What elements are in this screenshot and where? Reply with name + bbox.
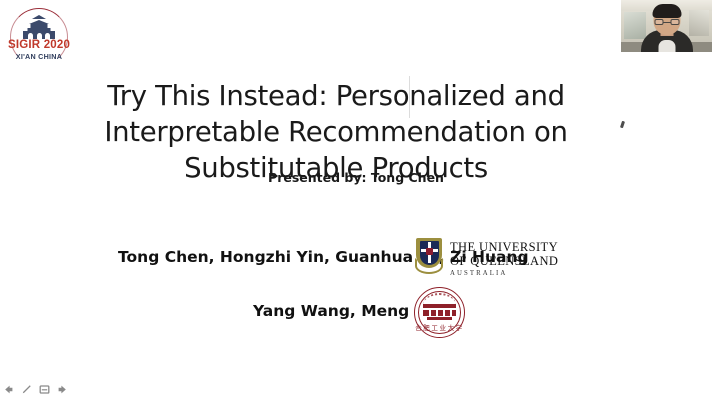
sigir-logo-name: SIGIR 2020 bbox=[8, 39, 70, 51]
seal-chinese-characters: 合肥工业大学 bbox=[414, 322, 465, 332]
webcam-window-right bbox=[689, 10, 709, 36]
sigir-conference-logo: SIGIR 2020 XI'AN CHINA bbox=[8, 6, 70, 62]
uq-text-line-2: OF QUEENSLAND bbox=[450, 254, 558, 268]
presenter-webcam-feed[interactable] bbox=[621, 0, 712, 52]
pen-annotation-button[interactable] bbox=[20, 383, 33, 396]
sigir-logo-location: XI'AN CHINA bbox=[8, 52, 70, 61]
presentation-slide: SIGIR 2020 XI'AN CHINA Try This Instead:… bbox=[0, 0, 712, 400]
render-artifact-line bbox=[409, 76, 410, 118]
screen-icon bbox=[39, 384, 50, 395]
left-arrow-icon bbox=[3, 384, 14, 395]
seal-emblem-bar-mid bbox=[423, 310, 456, 316]
pen-icon bbox=[21, 384, 32, 395]
presenter-line: Presented by: Tong Chen bbox=[0, 170, 712, 185]
hefei-university-seal-logo: 合肥工业大学 bbox=[414, 287, 465, 338]
university-of-queensland-logo: THE UNIVERSITY OF QUEENSLAND AUSTRALIA bbox=[414, 238, 538, 278]
seal-emblem-bar-top bbox=[423, 304, 456, 308]
uq-text-line-1: THE UNIVERSITY bbox=[450, 240, 558, 254]
uq-wordmark: THE UNIVERSITY OF QUEENSLAND AUSTRALIA bbox=[450, 240, 558, 279]
uq-text-line-3: AUSTRALIA bbox=[450, 268, 558, 279]
webcam-person-shirt bbox=[658, 40, 675, 52]
next-slide-button[interactable] bbox=[56, 383, 69, 396]
slide-navigation-toolbar bbox=[2, 382, 69, 396]
pagoda-icon bbox=[23, 15, 55, 39]
webcam-window-left bbox=[624, 12, 646, 39]
slide-view-button[interactable] bbox=[38, 383, 51, 396]
glasses-icon bbox=[654, 19, 679, 25]
seal-emblem-bar-bottom bbox=[427, 317, 452, 320]
webcam-person-hair bbox=[652, 4, 681, 18]
previous-slide-button[interactable] bbox=[2, 383, 15, 396]
right-arrow-icon bbox=[57, 384, 68, 395]
uq-shield-icon bbox=[414, 238, 444, 275]
